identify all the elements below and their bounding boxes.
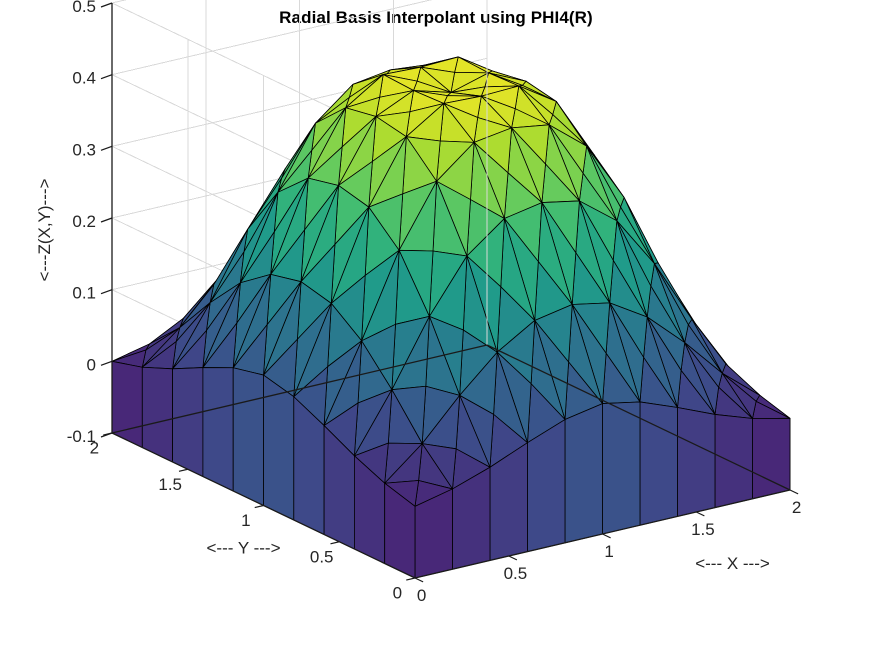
x-tick-mark (603, 534, 611, 538)
figure-canvas: Radial Basis Interpolant using PHI4(R) 0… (0, 0, 872, 654)
y-tick-label: 1 (241, 511, 250, 530)
y-tick-mark (406, 578, 415, 580)
surface-plot-axes: 00.511.5200.511.52-0.100.10.20.30.40.5 <… (0, 0, 872, 654)
surface-skirt-face (528, 420, 566, 552)
y-tick-label: 0.5 (310, 547, 334, 566)
z-tick-mark (101, 433, 112, 437)
y-tick-mark (179, 469, 188, 471)
x-tick-mark (509, 556, 517, 560)
z-tick-mark (101, 218, 112, 222)
y-tick-label: 0 (393, 584, 402, 603)
surface-mesh (112, 57, 790, 578)
surface-skirt-face (678, 407, 716, 516)
x-tick-mark (790, 490, 798, 494)
surface-skirt-face (603, 402, 641, 534)
z-axis-label: <---Z(X,Y)---> (35, 178, 54, 281)
z-tick-label: -0.1 (67, 427, 96, 446)
z-tick-label: 0.4 (72, 69, 96, 88)
x-tick-label: 0 (417, 586, 426, 605)
x-tick-mark (696, 512, 704, 516)
z-tick-mark (101, 146, 112, 150)
surface-skirt-face (233, 368, 263, 506)
surface-skirt-face (715, 414, 753, 507)
z-tick-mark (101, 290, 112, 294)
surface-skirt-face (203, 368, 233, 491)
x-tick-label: 1.5 (691, 520, 715, 539)
z-tick-mark (101, 3, 112, 7)
z-tick-label: 0.2 (72, 212, 96, 231)
z-tick-label: 0 (87, 355, 96, 374)
z-tick-label: 0.1 (72, 284, 96, 303)
y-tick-mark (255, 506, 264, 508)
surface-skirt-face (173, 368, 203, 477)
z-tick-mark (101, 75, 112, 79)
z-tick-mark (101, 361, 112, 365)
surface-skirt-face (565, 404, 603, 543)
x-tick-label: 1 (604, 542, 613, 561)
z-tick-label: 0.3 (72, 140, 96, 159)
x-tick-mark (415, 578, 423, 582)
y-axis-label: <--- Y ---> (207, 539, 281, 558)
y-tick-mark (330, 542, 339, 544)
x-tick-label: 0.5 (504, 564, 528, 583)
z-tick-label: 0.5 (72, 0, 96, 16)
y-tick-label: 1.5 (158, 475, 182, 494)
x-axis-label: <--- X ---> (695, 554, 770, 573)
x-tick-label: 2 (792, 498, 801, 517)
surface-skirt-face (142, 367, 172, 462)
